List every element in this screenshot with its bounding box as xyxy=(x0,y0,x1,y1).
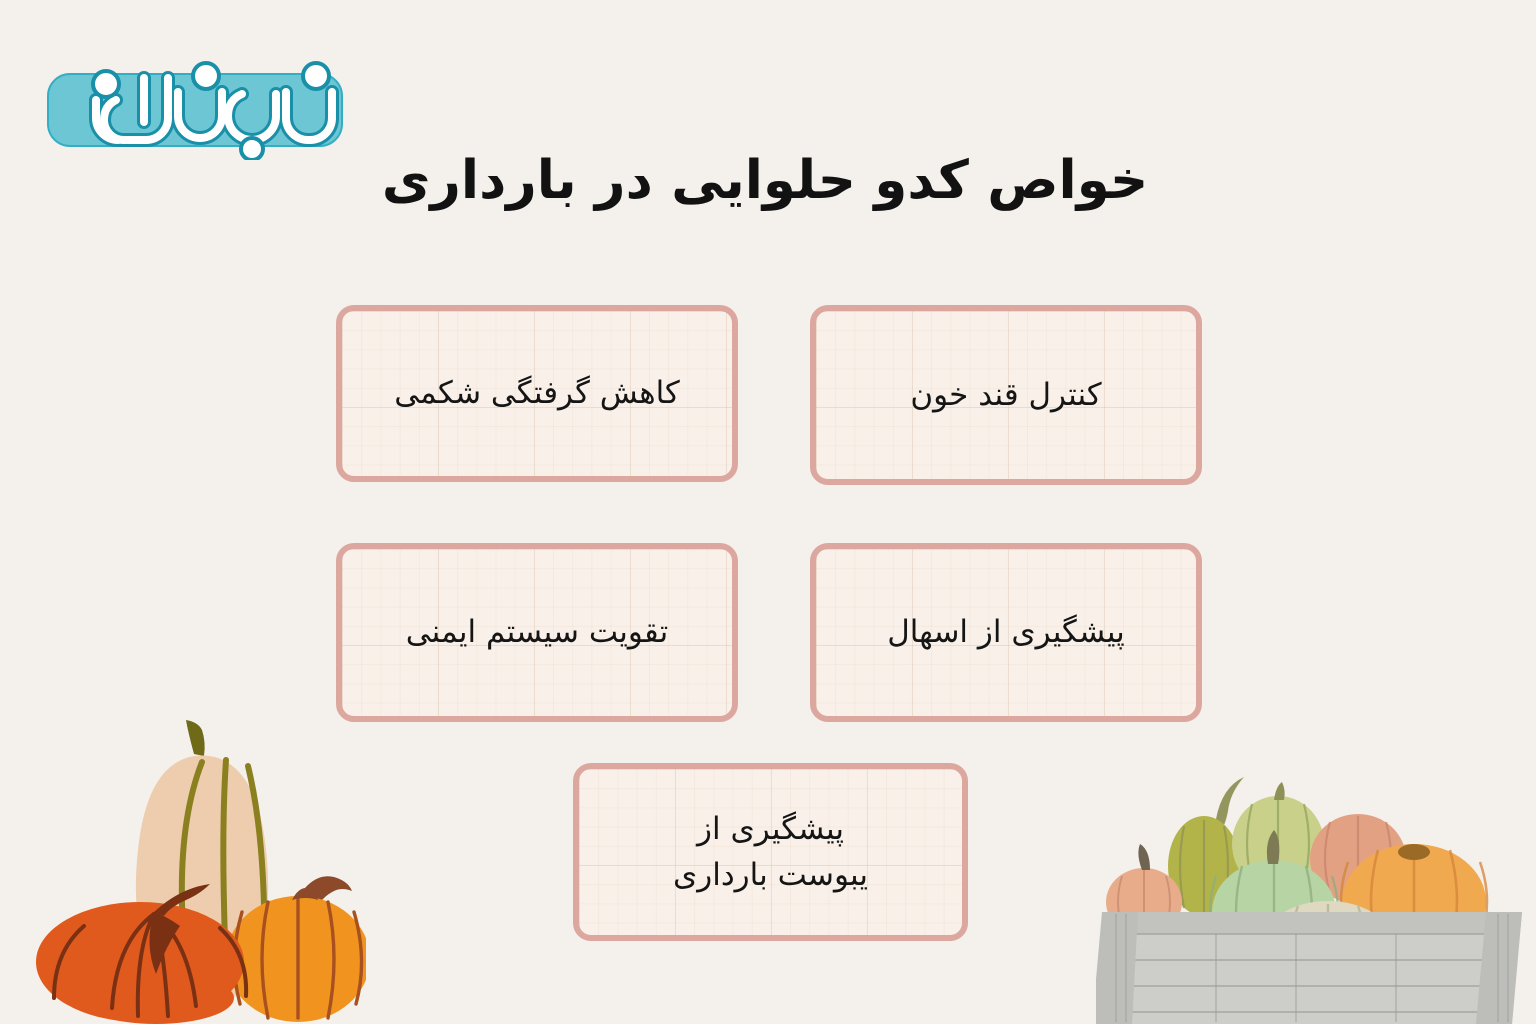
benefit-card-reduce-abdominal-cramping[interactable]: کاهش گرفتگی شکمی xyxy=(336,305,738,482)
benefit-card-blood-sugar-control[interactable]: کنترل قند خون xyxy=(810,305,1202,485)
wooden-crate xyxy=(1096,912,1522,1024)
flat-pumpkins-illustration: سه کدو تخت: کدوی قرمز-نارنجی، کدوی بلند … xyxy=(36,714,366,1024)
niniban-logo[interactable]: نی نی بان xyxy=(40,48,350,160)
page-title: خواص کدو حلوایی در بارداری xyxy=(340,148,1190,214)
benefit-card-label: کاهش گرفتگی شکمی xyxy=(378,370,696,417)
benefit-card-pregnancy-constipation-prevention[interactable]: پیشگیری از یبوست بارداری xyxy=(573,763,968,941)
benefit-card-label: پیشگیری از یبوست بارداری xyxy=(657,806,884,899)
benefit-card-immune-system-boost[interactable]: تقویت سیستم ایمنی xyxy=(336,543,738,722)
infographic-canvas: نی نی بان خواص کدو حلوایی در بارداری کاه… xyxy=(0,0,1536,1024)
benefit-card-label: تقویت سیستم ایمنی xyxy=(390,609,684,656)
benefit-card-label: کنترل قند خون xyxy=(894,372,1117,419)
benefit-card-diarrhea-prevention[interactable]: پیشگیری از اسهال xyxy=(810,543,1202,722)
watercolor-pumpkin-crate-illustration: جعبه چوبی خاکستری پر از کدوهای آبرنگی رن… xyxy=(1096,734,1536,1024)
benefit-card-label: پیشگیری از اسهال xyxy=(871,609,1141,656)
